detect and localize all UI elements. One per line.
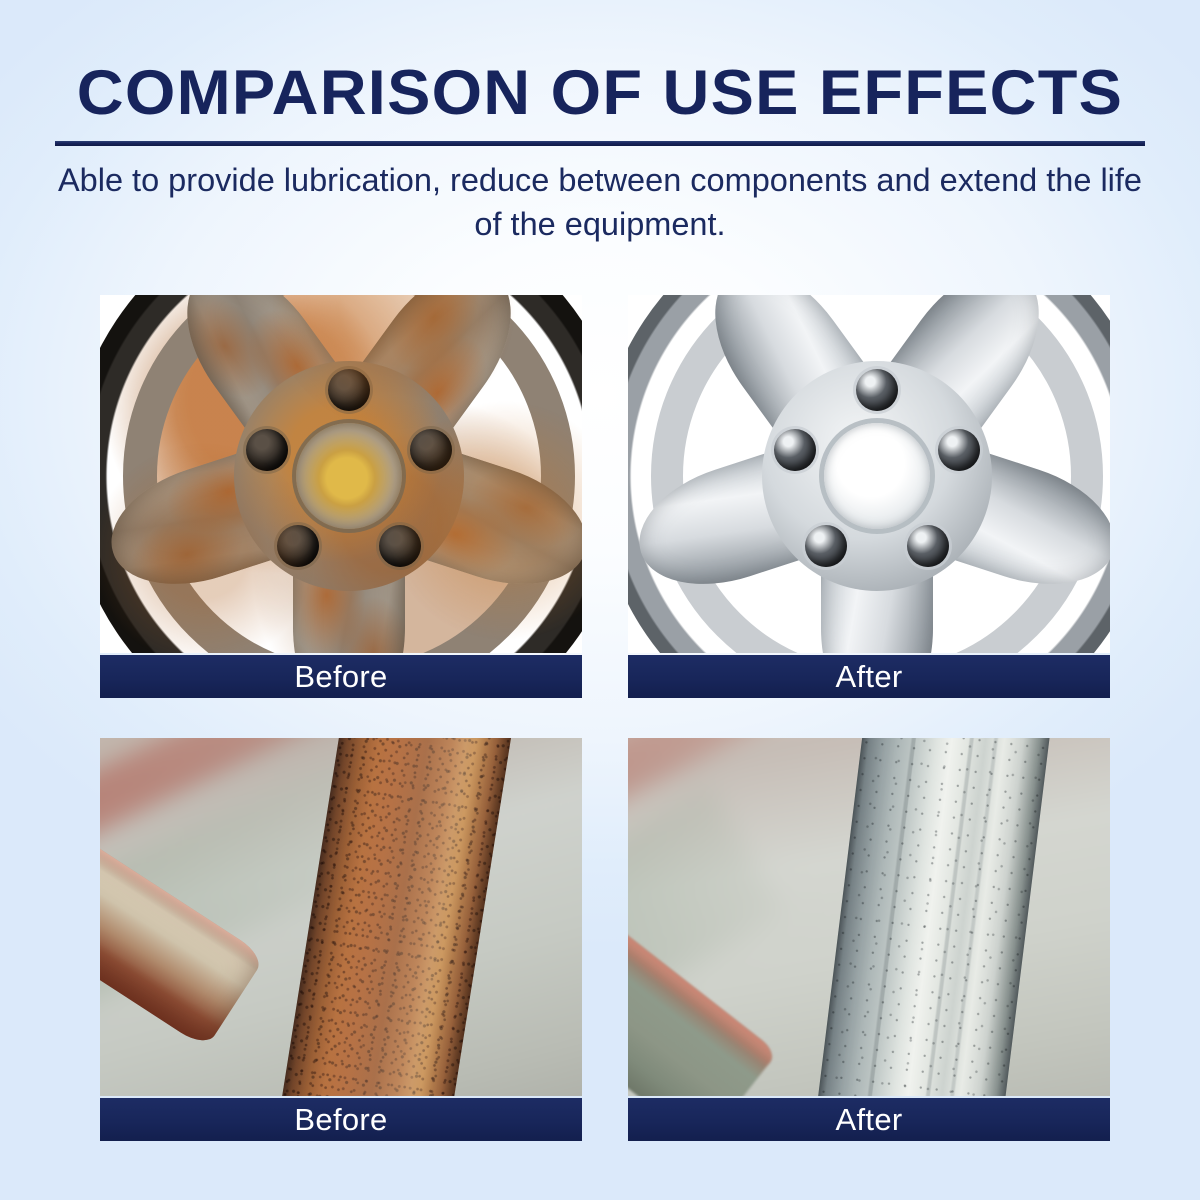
panel-pipe-before: Before	[100, 738, 582, 1141]
panel-wheel-before: Before	[100, 295, 582, 698]
photo-wheel-clean	[628, 295, 1110, 653]
page-subtitle: Able to provide lubrication, reduce betw…	[50, 158, 1150, 246]
comparison-grid: Before	[100, 295, 1110, 1141]
photo-wheel-rusty	[100, 295, 582, 653]
caption-before: Before	[100, 1098, 582, 1141]
page-title: COMPARISON OF USE EFFECTS	[0, 62, 1200, 125]
panel-pipe-after: After	[628, 738, 1110, 1141]
caption-after: After	[628, 1098, 1110, 1141]
comparison-infographic: COMPARISON OF USE EFFECTS Able to provid…	[0, 0, 1200, 1200]
pipe-rusty-illustration	[100, 738, 582, 1096]
pipe-clean-illustration	[628, 738, 1110, 1096]
photo-pipe-clean	[628, 738, 1110, 1096]
wheel-rusty-illustration	[100, 295, 582, 653]
panel-wheel-after: After	[628, 295, 1110, 698]
caption-before: Before	[100, 655, 582, 698]
wheel-clean-illustration	[628, 295, 1110, 653]
photo-pipe-rusty	[100, 738, 582, 1096]
title-divider	[55, 141, 1145, 146]
caption-after: After	[628, 655, 1110, 698]
